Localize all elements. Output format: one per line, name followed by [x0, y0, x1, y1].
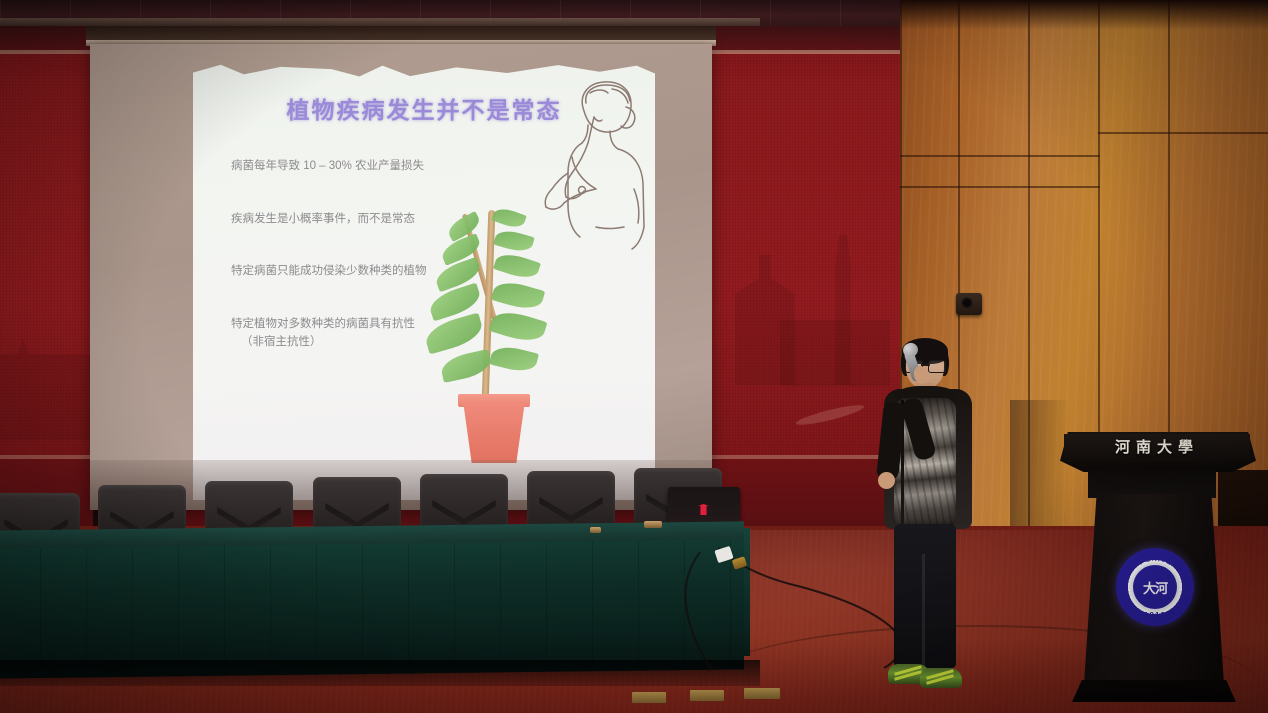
slide-bullet-1: 病菌每年导致 10 – 30% 农业产量损失 — [231, 159, 561, 175]
floor-outlet-plate — [690, 690, 724, 701]
plant-leaf — [491, 205, 527, 231]
potted-plant-illustration — [425, 188, 555, 478]
wood-wall-top-shadow — [900, 0, 1268, 30]
plant-leaf — [493, 227, 534, 255]
lectern-podium: 河南大學 HENAN UNIVERSITY 大河 1912 — [1058, 432, 1268, 713]
plant-leaf — [493, 250, 541, 283]
plant-leaf — [489, 343, 539, 375]
presenter — [872, 336, 987, 696]
floor-outlet-plate — [632, 692, 666, 703]
emblem-center-characters: 大河 — [1133, 565, 1177, 609]
presenter-hand-left — [878, 472, 895, 489]
slide-bullet-4-main: 特定植物对多数种类的病菌具有抗性 — [231, 318, 415, 330]
university-emblem: HENAN UNIVERSITY 大河 1912 — [1116, 548, 1194, 626]
desk-device — [590, 527, 601, 533]
wall-speaker-icon — [956, 293, 982, 315]
presenter-legs — [894, 524, 956, 668]
wood-seam — [900, 155, 1100, 157]
desk-device — [644, 521, 662, 528]
plant-pot — [463, 401, 525, 463]
plant-leaf — [491, 278, 545, 314]
wood-seam — [1098, 132, 1268, 134]
woman-with-stethoscope-illustration — [538, 77, 655, 262]
floor-outlet-plate — [744, 688, 780, 699]
lecture-hall-photo: 植物疾病发生并不是常态 病菌每年导致 10 – 30% 农业产量损失 疾病发生是… — [0, 0, 1268, 713]
projection-screen: 植物疾病发生并不是常态 病菌每年导致 10 – 30% 农业产量损失 疾病发生是… — [90, 44, 712, 510]
podium-neck — [1088, 470, 1216, 498]
plant-leaf — [422, 313, 485, 355]
glasses-lens-right — [928, 360, 946, 373]
projected-slide: 植物疾病发生并不是常态 病菌每年导致 10 – 30% 农业产量损失 疾病发生是… — [193, 63, 655, 500]
shoe-right — [920, 668, 962, 688]
plant-leaf — [489, 307, 548, 347]
wood-seam — [900, 186, 1100, 188]
table-cloth — [0, 539, 744, 678]
podium-university-name: 河南大學 — [1064, 436, 1250, 457]
emblem-year: 1912 — [1116, 611, 1194, 620]
leg-separation — [922, 554, 925, 666]
podium-base — [1072, 680, 1236, 702]
